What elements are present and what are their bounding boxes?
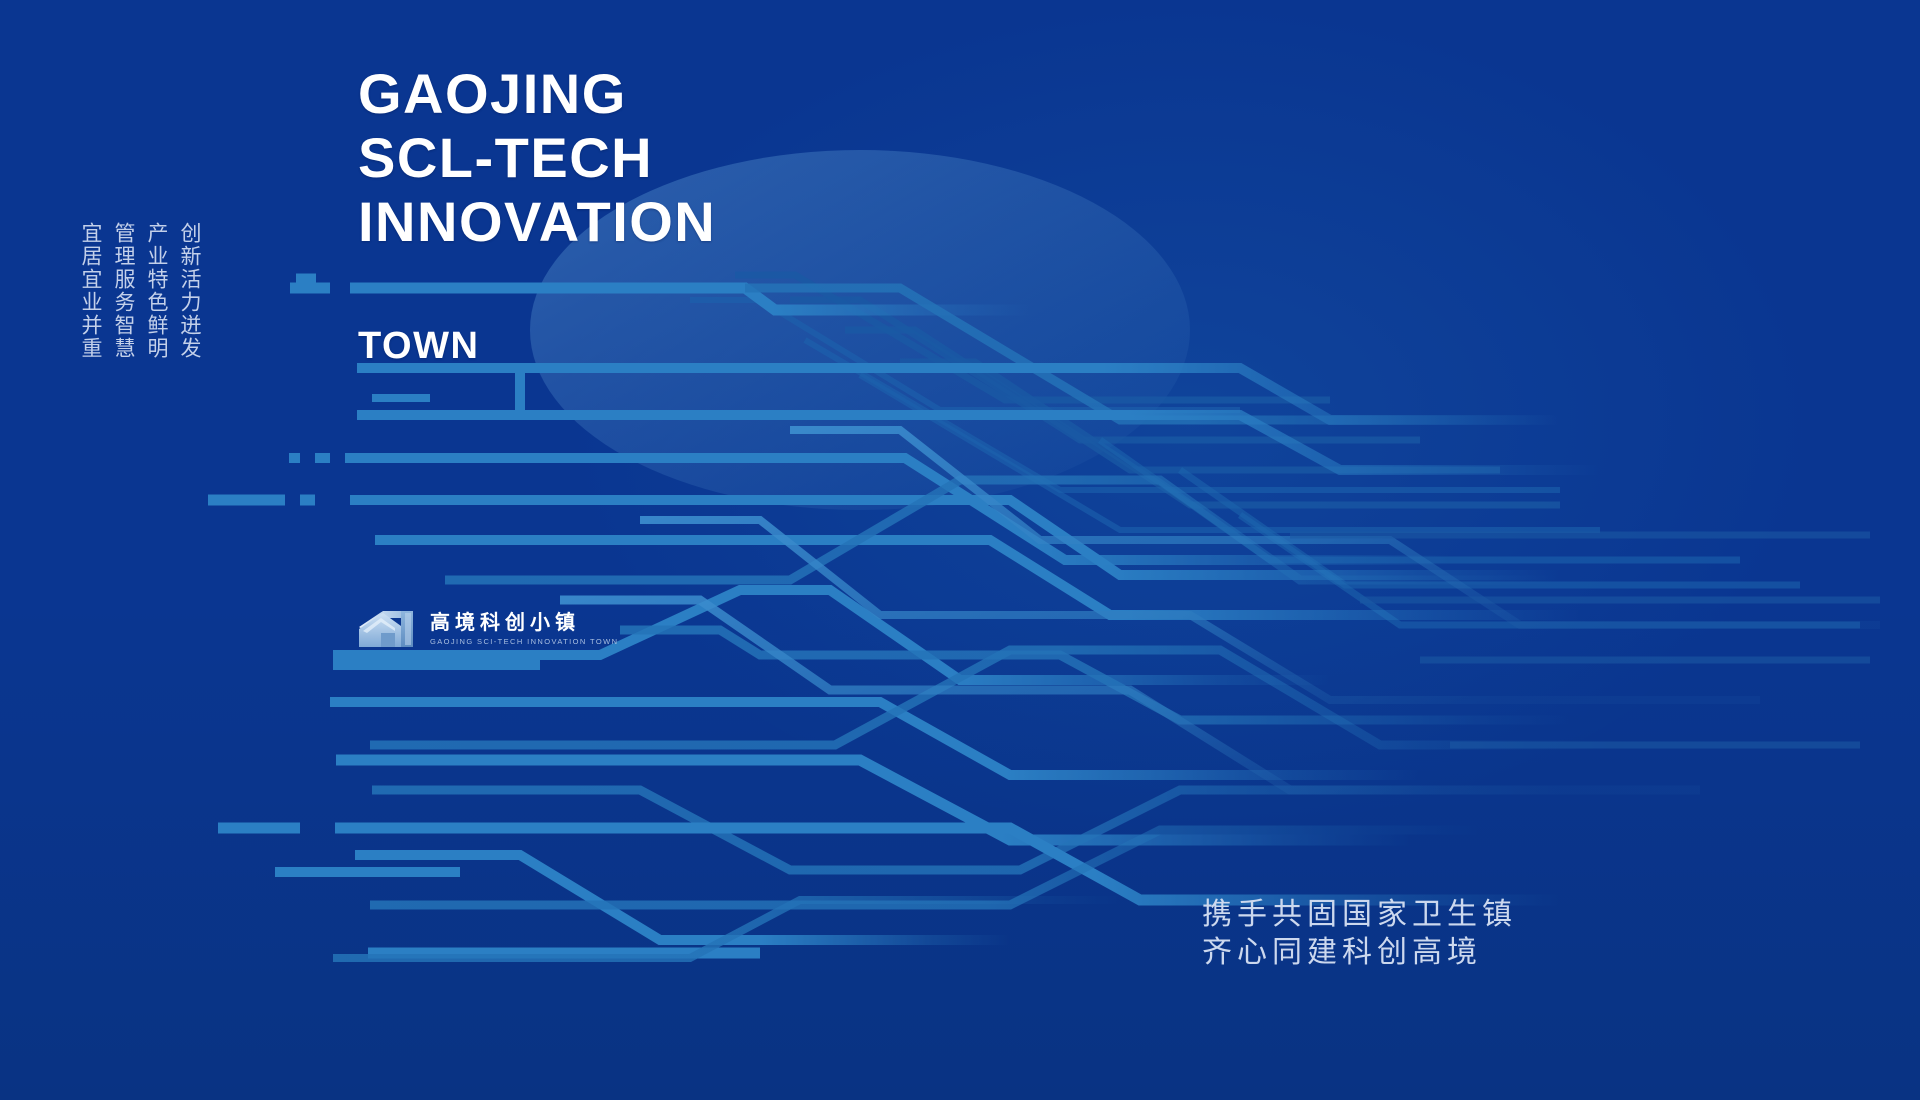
vertical-slogan-col-1: 创新活力迸发 [177,222,202,360]
vertical-slogan: 创新活力迸发 产业特色鲜明 管理服务智慧 宜居宜业并重 [78,222,202,360]
headline-line-1: GAOJING [358,62,716,126]
circuit-trace-artwork [0,0,1920,1100]
headline-line-3: INNOVATION [358,190,716,254]
bottom-slogan-line-2: 齐心同建科创高境 [1202,934,1517,972]
poster-canvas: 创新活力迸发 产业特色鲜明 管理服务智慧 宜居宜业并重 GAOJING SCL-… [0,0,1920,1100]
bottom-slogan-line-1: 携手共固国家卫生镇 [1202,896,1517,934]
vertical-slogan-col-2: 产业特色鲜明 [144,222,169,360]
brand-name-cn: 高境科创小镇 [430,611,618,633]
brand-logo: 高境科创小镇 GAOJING SCI-TECH INNOVATION TOWN [357,607,618,651]
bottom-slogan: 携手共固国家卫生镇 齐心同建科创高境 [1202,896,1517,972]
brand-name-en: GAOJING SCI-TECH INNOVATION TOWN [430,636,618,647]
vertical-slogan-col-3: 管理服务智慧 [111,222,136,360]
headline-line-2: SCL-TECH [358,126,716,190]
page-title: GAOJING SCL-TECH INNOVATION [358,62,716,254]
house-building-icon [357,607,419,651]
headline-line-4: TOWN [358,325,479,368]
vertical-slogan-col-4: 宜居宜业并重 [78,222,103,360]
brand-wordmark: 高境科创小镇 GAOJING SCI-TECH INNOVATION TOWN [430,611,618,647]
